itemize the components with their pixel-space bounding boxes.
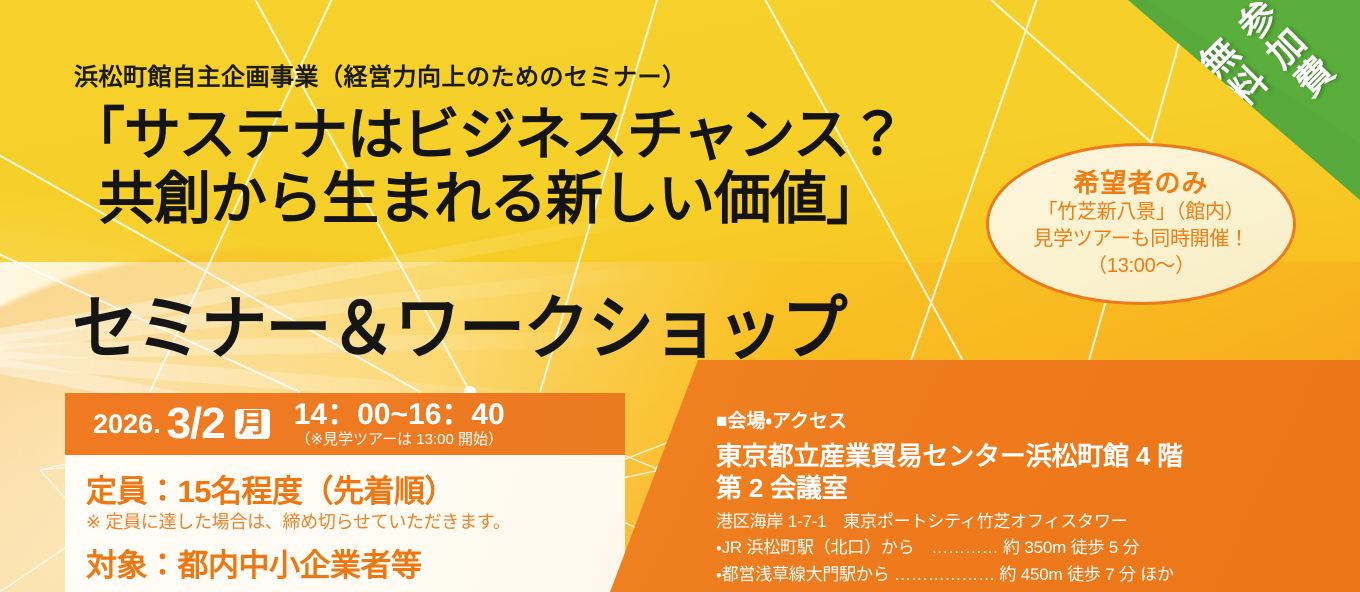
- tour-start-note: （※見学ツアーは 13:00 開始）: [295, 431, 503, 449]
- seminar-banner: 参加費無料 浜松町館自主企画事業（経営力向上のためのセミナー） 「サステナはビジ…: [0, 0, 1360, 592]
- target-audience-line: 対象：都内中小企業者等: [86, 540, 422, 585]
- title-line-2: 共創から生まれる新しい価値」: [68, 168, 905, 232]
- time-group: 14：00~16：40 （※見学ツアーは 13:00 開始）: [294, 399, 505, 450]
- badge-line-3: 見学ツアーも同時開催！: [1033, 226, 1249, 253]
- date-day: 3/2: [167, 399, 225, 449]
- date-year: 2026.: [93, 409, 161, 440]
- event-type-heading: セミナー＆ワークショップ: [72, 272, 846, 374]
- capacity-note: ※ 定員に達した場合は、締め切らせていただきます。: [86, 508, 510, 534]
- badge-line-2: 「竹芝新八景」（館内）: [1038, 199, 1245, 226]
- page-title: 「サステナはビジネスチャンス？ 共創から生まれる新しい価値」: [68, 104, 905, 232]
- badge-line-4: （13:00〜）: [1087, 253, 1195, 280]
- date-weekday-badge: 月: [235, 409, 270, 439]
- date-time-bar: 2026. 3/2 月 14：00~16：40 （※見学ツアーは 13:00 開…: [65, 393, 625, 455]
- kicker-text: 浜松町館自主企画事業（経営力向上のためのセミナー）: [74, 57, 687, 92]
- venue-name: 東京都立産業貿易センター浜松町館 4 階 第 2 会議室: [716, 440, 1183, 504]
- venue-access-info: 港区海岸 1-7-1 東京ポートシティ竹芝オフィスタワー ・JR 浜松町駅（北口…: [716, 509, 1174, 588]
- venue-heading: ■会場・アクセス: [716, 406, 847, 433]
- event-time: 14：00~16：40: [294, 399, 505, 431]
- venue-name-line-1: 東京都立産業貿易センター浜松町館 4 階: [716, 440, 1183, 472]
- venue-name-line-2: 第 2 会議室: [716, 472, 1183, 504]
- title-line-1: 「サステナはビジネスチャンス？: [68, 103, 905, 167]
- capacity-line: 定員：15名程度（先着順）: [86, 466, 455, 511]
- badge-line-1: 希望者のみ: [1073, 168, 1208, 199]
- optional-tour-badge: 希望者のみ 「竹芝新八景」（館内） 見学ツアーも同時開催！ （13:00〜）: [986, 143, 1296, 305]
